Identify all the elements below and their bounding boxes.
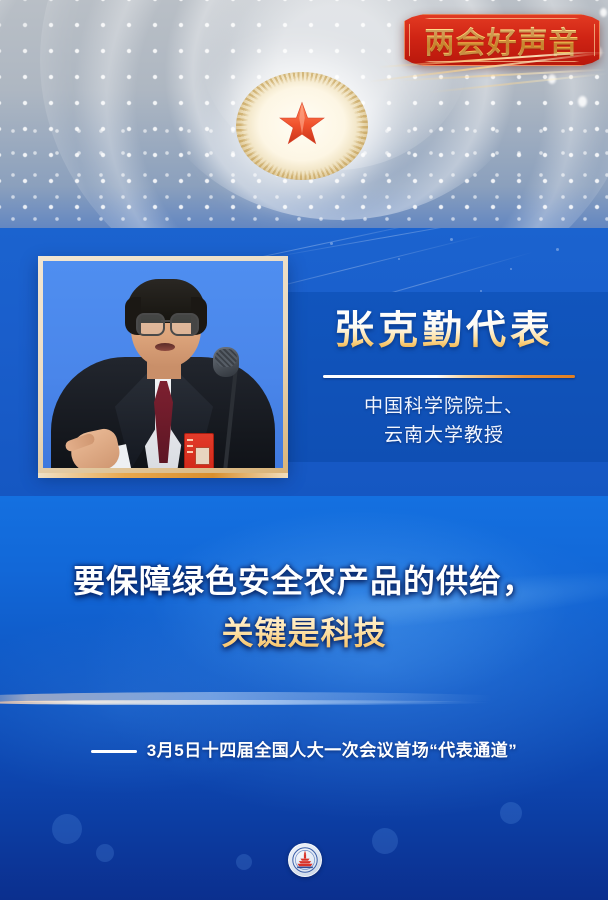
speaker-photo xyxy=(43,261,283,468)
light-speck xyxy=(548,74,556,84)
bokeh-dot xyxy=(500,802,522,824)
quote-line-2: 关键是科技 xyxy=(0,608,608,660)
bokeh-dot xyxy=(372,828,398,854)
speaker-role-line-2: 云南大学教授 xyxy=(280,421,608,450)
quote-text: 要保障绿色安全农产品的供给， 关键是科技 xyxy=(0,556,608,660)
glasses-lens-left-icon xyxy=(136,313,165,336)
speaker-photo-frame xyxy=(38,256,288,473)
light-speck xyxy=(600,8,607,17)
caption: 3月5日十四届全国人大一次会议首场“代表通道” xyxy=(0,736,608,761)
badge-line xyxy=(187,451,193,453)
ceiling-center-lamp xyxy=(236,72,368,180)
photo-bottom-accent xyxy=(38,473,288,478)
bokeh-dot xyxy=(236,854,252,870)
footer-emblem xyxy=(288,843,322,877)
badge-line xyxy=(187,445,193,447)
light-streak xyxy=(0,700,490,705)
mouth-shape xyxy=(155,343,175,351)
speaker-role-line-1: 中国科学院院士、 xyxy=(280,392,608,421)
name-divider xyxy=(323,375,575,378)
badge-photo xyxy=(195,447,210,465)
bokeh-dot xyxy=(52,814,82,844)
banner-title: 两会好声音 xyxy=(404,14,600,66)
caption-text: 3月5日十四届全国人大一次会议首场“代表通道” xyxy=(147,741,517,760)
light-speck xyxy=(578,96,587,107)
microphone-grille xyxy=(215,349,237,367)
caption-dash-icon xyxy=(91,750,137,753)
quote-line-1: 要保障绿色安全农产品的供给， xyxy=(0,556,608,608)
light-streak xyxy=(0,692,520,704)
badge-line xyxy=(187,439,193,441)
poster-root: 两会好声音 xyxy=(0,0,608,900)
bokeh-dot xyxy=(96,844,114,862)
glasses-bridge-icon xyxy=(161,320,170,322)
pagoda-icon xyxy=(292,847,318,873)
speaker-role: 中国科学院院士、 云南大学教授 xyxy=(280,392,608,451)
header-banner: 两会好声音 xyxy=(404,14,600,66)
red-star-icon xyxy=(279,102,325,151)
glasses-lens-right-icon xyxy=(170,313,199,336)
speaker-name: 张克勤代表 xyxy=(280,310,608,350)
